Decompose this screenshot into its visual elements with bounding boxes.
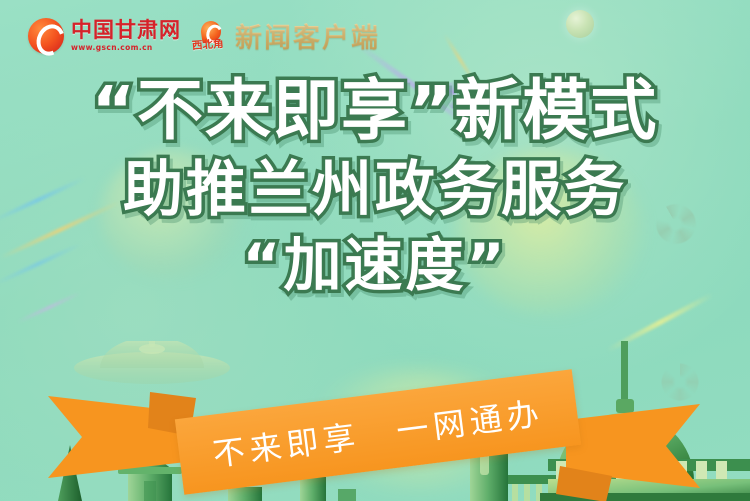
gansu-net-logo[interactable]: 中国甘肃网 www.gscn.com.cn <box>28 18 181 54</box>
gansu-net-url: www.gscn.com.cn <box>71 44 181 52</box>
xibeijiao-app-logo[interactable]: 西北角 新闻客户端 <box>197 16 380 55</box>
headline-line-1: “不来即享”新模式 <box>0 78 750 144</box>
poster-canvas: 中国甘肃网 www.gscn.com.cn 西北角 新闻客户端 “不来即享”新模… <box>0 0 750 501</box>
ribbon-banner: 不来即享 一网通办 <box>0 376 750 501</box>
floating-sphere-icon <box>566 10 594 38</box>
headline-line-2: 助推兰州政务服务 <box>0 160 750 220</box>
headline-block: “不来即享”新模式 助推兰州政务服务 “加速度” <box>0 78 750 294</box>
headline-line-3: “加速度” <box>0 236 750 294</box>
xibeijiao-seal-text: 西北角 <box>192 35 224 52</box>
logo-bar: 中国甘肃网 www.gscn.com.cn 西北角 新闻客户端 <box>28 16 380 55</box>
gansu-net-name: 中国甘肃网 <box>71 20 181 41</box>
xibeijiao-droplet-logo-icon: 西北角 <box>197 21 224 51</box>
gansu-net-swan-logo-icon <box>28 18 64 54</box>
app-name-label: 新闻客户端 <box>235 16 380 55</box>
purple-streak-icon <box>17 291 82 323</box>
